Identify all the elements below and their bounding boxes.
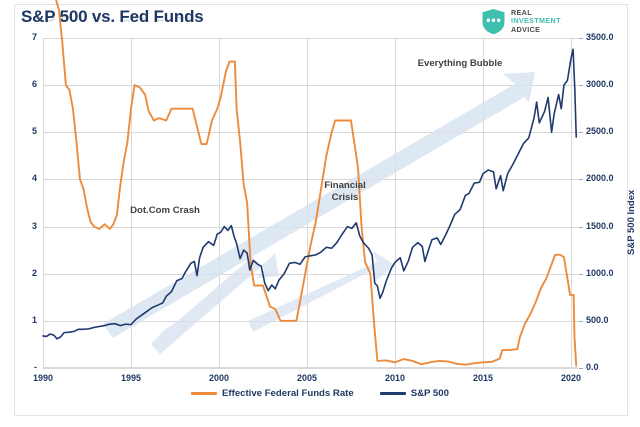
chart-legend: Effective Federal Funds RateS&P 500 xyxy=(0,388,640,399)
y-axis-right-tickmark xyxy=(579,227,583,228)
y-axis-left-tick: - xyxy=(7,362,37,372)
y-axis-right-tick: 2500.0 xyxy=(586,126,632,136)
y-axis-right-tick: 3000.0 xyxy=(586,79,632,89)
title-block: S&P 500 vs. Fed Funds S&P 500 vs. Fed Fu… xyxy=(21,7,204,34)
legend-sp500[interactable]: S&P 500 xyxy=(380,388,449,399)
chart-screenshot: S&P 500 vs. Fed Funds S&P 500 vs. Fed Fu… xyxy=(0,0,640,427)
annotation-financial-crisis: Financial Crisis xyxy=(305,180,385,204)
brand-logo: REAL INVESTMENT ADVICE xyxy=(481,8,561,35)
annotation-everything-bubble: Everything Bubble xyxy=(395,58,525,70)
legend-fed-funds-swatch xyxy=(191,392,217,395)
x-axis-tick: 1990 xyxy=(20,373,66,383)
legend-sp500-swatch xyxy=(380,392,406,395)
legend-fed-funds[interactable]: Effective Federal Funds Rate xyxy=(191,388,354,399)
y-axis-right-tickmark xyxy=(579,321,583,322)
y-axis-left-tick: 6 xyxy=(7,79,37,89)
y-axis-right-tickmark xyxy=(579,38,583,39)
legend-sp500-label: S&P 500 xyxy=(411,388,449,399)
y-axis-right-tickmark xyxy=(579,132,583,133)
annotation-financial-crisis-line2: Crisis xyxy=(305,192,385,204)
y-axis-right-tickmark xyxy=(579,179,583,180)
y-axis-left-tick: 7 xyxy=(7,32,37,42)
y-axis-left-tick: 2 xyxy=(7,268,37,278)
page-title-reflection: S&P 500 vs. Fed Funds xyxy=(21,16,204,25)
y-axis-right-tick: 500.0 xyxy=(586,315,632,325)
y-axis-right-title: S&P 500 Index xyxy=(626,190,637,255)
y-axis-right-tickmark xyxy=(579,85,583,86)
x-axis-tick: 2010 xyxy=(372,373,418,383)
shield-three-dots-icon xyxy=(481,8,506,35)
brand-line-advice: ADVICE xyxy=(511,26,561,35)
brand-logo-text: REAL INVESTMENT ADVICE xyxy=(511,9,561,35)
y-axis-left-tick: 5 xyxy=(7,126,37,136)
x-axis-tick: 2005 xyxy=(284,373,330,383)
x-axis-tick: 2020 xyxy=(548,373,594,383)
y-axis-right-tickmark xyxy=(579,368,583,369)
x-axis-tick: 2015 xyxy=(460,373,506,383)
x-axis-tick: 2000 xyxy=(196,373,242,383)
y-axis-right-tick: 3500.0 xyxy=(586,32,632,42)
x-axis-tick: 1995 xyxy=(108,373,154,383)
y-axis-right-tick: 0.0 xyxy=(586,362,632,372)
y-axis-left-title: Fed Funds Rate xyxy=(0,79,3,150)
y-axis-left-tick: 4 xyxy=(7,173,37,183)
y-axis-right-tick: 2000.0 xyxy=(586,173,632,183)
y-axis-left-tick: 1 xyxy=(7,315,37,325)
y-axis-left-tick: 3 xyxy=(7,221,37,231)
annotation-dotcom-crash: Dot.Com Crash xyxy=(110,205,220,217)
gridline-horizontal xyxy=(43,368,578,369)
y-axis-right-tick: 1000.0 xyxy=(586,268,632,278)
y-axis-right-tickmark xyxy=(579,274,583,275)
legend-fed-funds-label: Effective Federal Funds Rate xyxy=(222,388,354,399)
annotation-financial-crisis-line1: Financial xyxy=(305,180,385,192)
